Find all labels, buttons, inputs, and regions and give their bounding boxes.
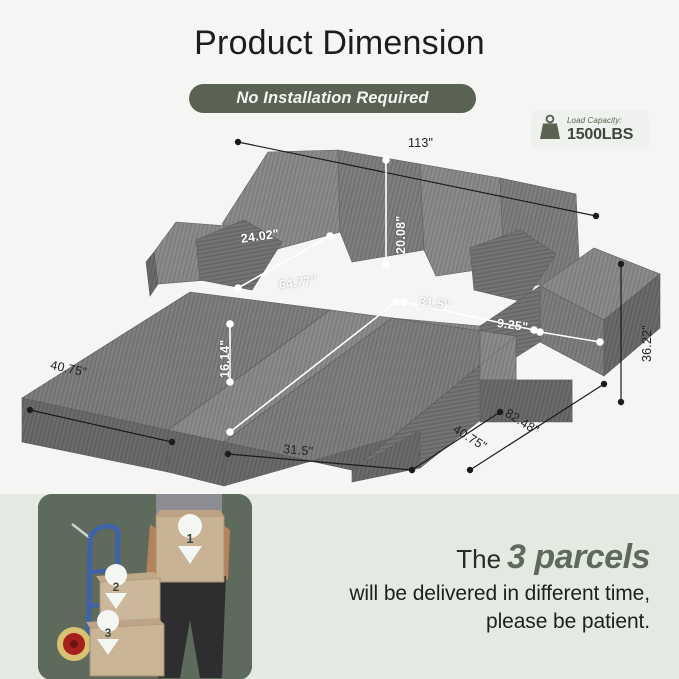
sofa-diagram: 113" 36.22" 82.48" 40.75" 40.75" 31.5" 2… xyxy=(0,130,679,490)
dimension-label-module-front: 31.5" xyxy=(283,442,314,459)
parcel-box-3 xyxy=(86,618,164,676)
product-dimension-infographic: Product Dimension No Installation Requir… xyxy=(0,0,679,679)
dimension-label-overall-height: 36.22" xyxy=(640,325,654,362)
delivery-message-highlight: 3 parcels xyxy=(507,538,650,576)
dimension-label-overall-width: 113" xyxy=(408,136,433,150)
sofa-illustration xyxy=(0,130,679,490)
load-capacity-label: Load Capacity: xyxy=(567,117,633,125)
no-installation-badge: No Installation Required xyxy=(189,84,476,113)
delivery-message-line2: will be delivered in different time, xyxy=(290,580,650,608)
page-title: Product Dimension xyxy=(0,24,679,63)
parcel-marker-2-label: 2 xyxy=(113,580,120,594)
parcel-marker-1-label: 1 xyxy=(186,531,193,546)
no-installation-badge-label: No Installation Required xyxy=(236,89,428,108)
delivery-photo: 1 2 3 xyxy=(38,494,252,679)
delivery-message-prefix: The xyxy=(456,544,501,574)
dimension-label-seat-height: 16.14" xyxy=(218,340,232,378)
delivery-message-line1: The3 parcels xyxy=(290,535,650,580)
dimension-label-back-height: 20.08" xyxy=(394,216,408,254)
parcel-marker-3-label: 3 xyxy=(105,626,112,640)
delivery-illustration: 1 2 3 xyxy=(38,494,252,679)
delivery-message-line3: please be patient. xyxy=(290,608,650,636)
delivery-message: The3 parcels will be delivered in differ… xyxy=(290,535,650,635)
